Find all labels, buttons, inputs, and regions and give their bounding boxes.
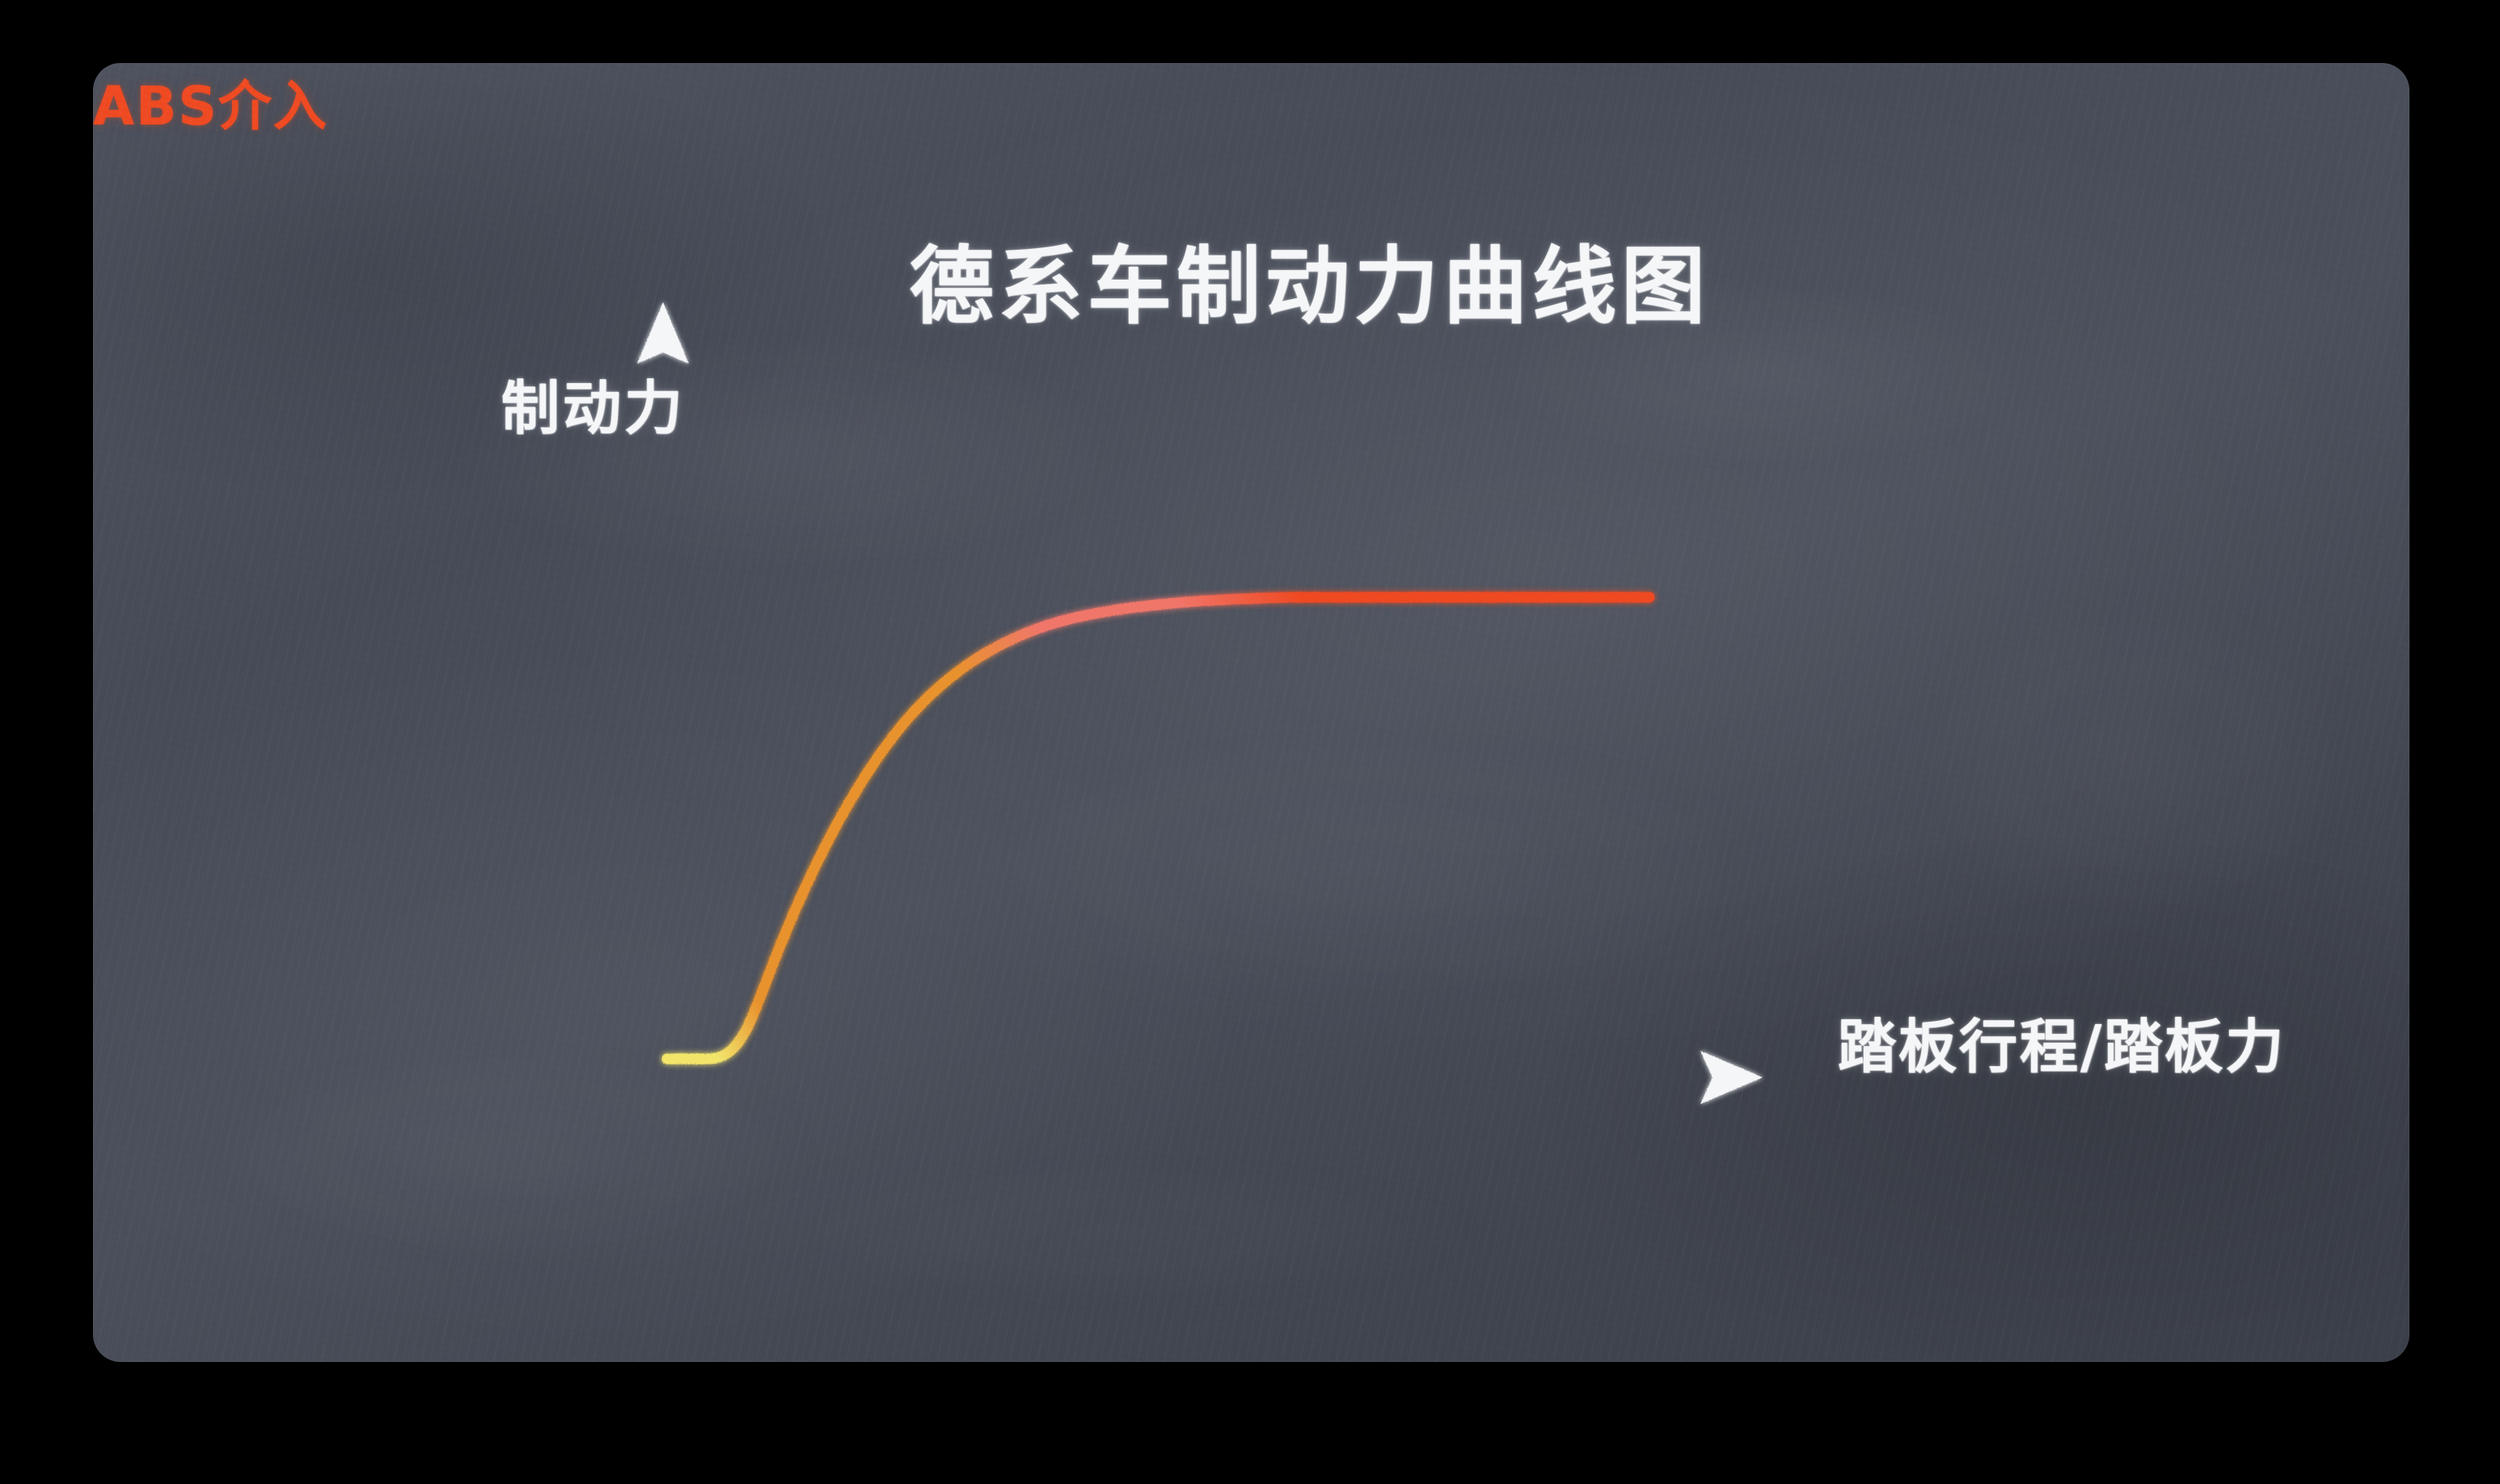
chalkboard-panel: 德系车制动力曲线图 制动力 踏板行程/踏板力 ABS介入 bbox=[93, 63, 2409, 1362]
x-axis-label: 踏板行程/踏板力 bbox=[1838, 999, 2286, 1084]
abs-intervention-label: ABS介入 bbox=[93, 63, 2409, 141]
x-axis-arrowhead bbox=[1700, 1051, 1763, 1104]
braking-force-curve bbox=[667, 597, 1649, 1059]
screenshot-root: 德系车制动力曲线图 制动力 踏板行程/踏板力 ABS介入 bbox=[0, 0, 2500, 1484]
y-axis-arrowhead bbox=[637, 302, 689, 364]
y-axis-label: 制动力 bbox=[501, 360, 686, 445]
braking-force-curve-group bbox=[667, 597, 1649, 1059]
chart-title: 德系车制动力曲线图 bbox=[910, 239, 1710, 333]
axes-group bbox=[637, 302, 1763, 1104]
